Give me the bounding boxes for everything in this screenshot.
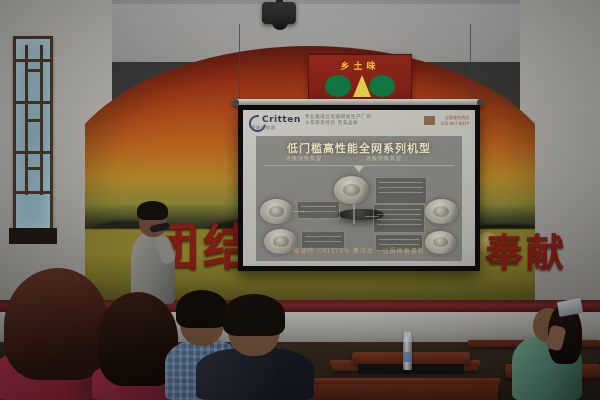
banner-text: 乡土味 <box>309 59 411 72</box>
slide-title: 低门槛高性能全网系列机型 <box>256 140 462 156</box>
slide-hotline: 全国服务热线 400-887-8839 <box>441 115 469 126</box>
slide-footer: 格瑞特 CRITTEN 集成灶 · 让厨房更清新 <box>256 246 462 255</box>
water-bottle-label <box>403 352 412 362</box>
screen-wire-left <box>239 24 240 100</box>
hotline-number: 400-887-8839 <box>441 121 469 127</box>
decorative-lattice-panel <box>13 36 53 231</box>
slide-header: Critten 格瑞特电器 专业集成灶电器研发生产厂商 十年研发经验 完美品质 … <box>243 110 475 134</box>
slide-callout-right <box>373 204 424 234</box>
water-bottle-cap <box>404 332 411 337</box>
product-ring-top <box>334 176 369 204</box>
chevron-down-icon <box>354 166 364 172</box>
wall-emblem-banner: 乡土味 <box>308 54 412 104</box>
wall-slogan-right: 奉献 <box>485 222 567 277</box>
conference-room-photo: 团结 奉献 乡土味 Critten 格瑞特电器 <box>0 0 600 400</box>
slide-subtitle-left: 近吸侧吸款型 <box>286 155 322 162</box>
product-ring-left <box>260 199 293 224</box>
slide-callout-top-center <box>375 177 426 204</box>
product-ring-right <box>425 199 458 224</box>
presentation-slide: Critten 格瑞特电器 专业集成灶电器研发生产厂商 十年研发经验 完美品质 … <box>243 110 475 266</box>
hotline-icon <box>424 116 435 125</box>
slide-header-line-2: 十年研发经验 完美品质 <box>305 121 358 127</box>
slide-body: 低门槛高性能全网系列机型 近吸侧吸款型 远吸侧吸款型 <box>256 136 462 261</box>
desk-front-panel <box>302 384 498 400</box>
projection-screen[interactable]: Critten 格瑞特电器 专业集成灶电器研发生产厂商 十年研发经验 完美品质 … <box>238 105 480 271</box>
lattice-panel-base <box>9 228 57 244</box>
banner-pyramid-icon <box>353 75 371 97</box>
screen-wire-right <box>470 24 471 100</box>
brand-wordmark: Critten <box>262 115 301 125</box>
slide-subtitle-right: 远吸侧吸款型 <box>366 155 402 162</box>
hotline-label: 全国服务热线 <box>441 115 469 121</box>
brand-subtext: 格瑞特电器 <box>251 125 276 131</box>
